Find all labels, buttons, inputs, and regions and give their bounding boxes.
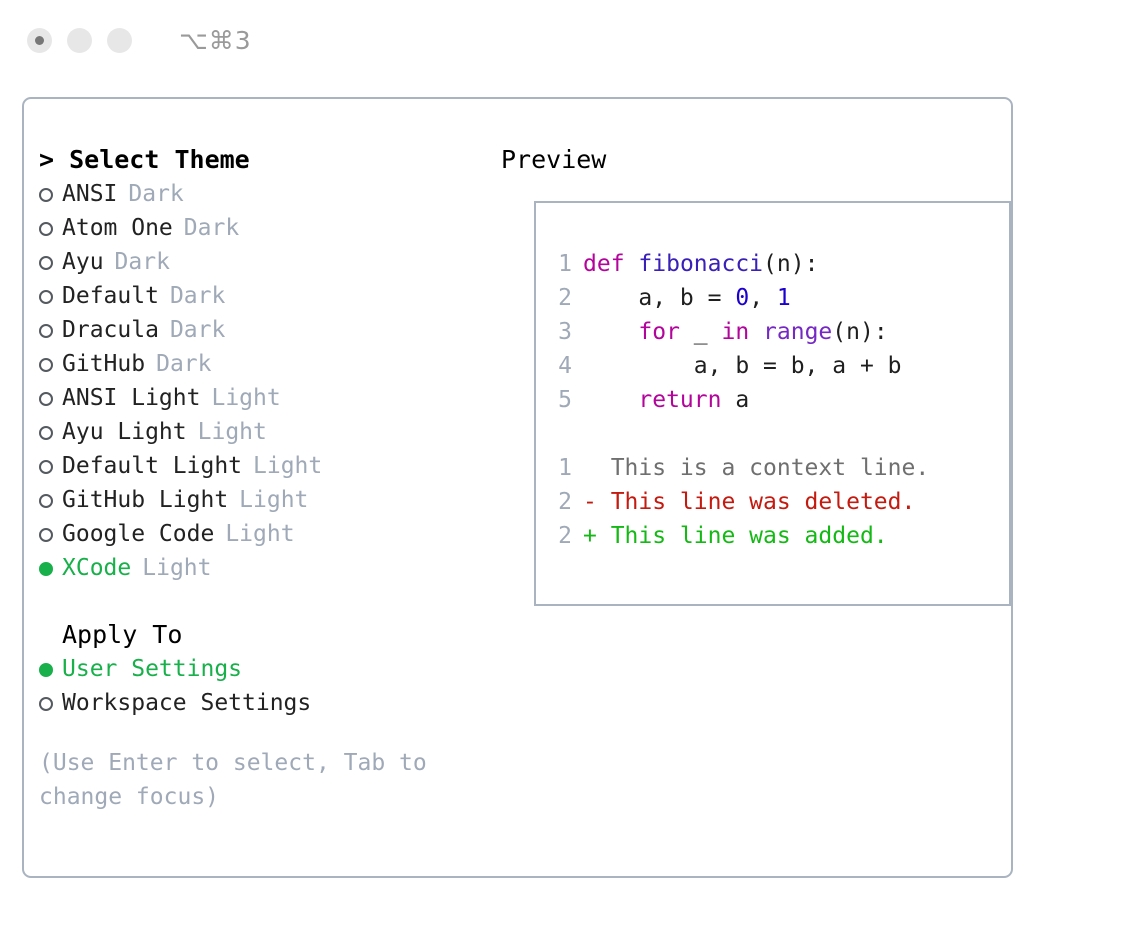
code-line: 1def fibonacci(n): <box>548 247 1009 281</box>
radio-unselected-icon <box>39 347 62 381</box>
keyboard-hint-text: (Use Enter to select, Tab to change focu… <box>39 746 439 814</box>
diff-line-number: 1 <box>548 451 572 485</box>
diff-line-del: 2- This line was deleted. <box>548 485 1009 519</box>
window-button-2[interactable] <box>67 28 92 53</box>
theme-item-ayu[interactable]: AyuDark <box>39 245 489 279</box>
token-plain: (n): <box>763 251 818 277</box>
code-text: a, b = b, a + b <box>583 349 902 383</box>
theme-item-label: XCode <box>62 551 131 585</box>
theme-item-ayu-light[interactable]: Ayu LightLight <box>39 415 489 449</box>
theme-kind-label: Dark <box>184 211 239 245</box>
theme-item-ansi[interactable]: ANSIDark <box>39 177 489 211</box>
code-line: 4 a, b = b, a + b <box>548 349 1009 383</box>
radio-unselected-icon <box>39 313 62 347</box>
line-number: 2 <box>548 281 572 315</box>
window-button-3[interactable] <box>107 28 132 53</box>
theme-item-label: Ayu <box>62 245 104 279</box>
radio-selected-icon <box>39 652 62 686</box>
preview-column: Preview 1def fibonacci(n):2 a, b = 0, 13… <box>501 143 1001 177</box>
apply-to-option-user-settings[interactable]: User Settings <box>39 652 489 686</box>
code-diff-gap <box>548 417 1009 451</box>
theme-kind-label: Dark <box>170 279 225 313</box>
token-builtin: range <box>763 319 832 345</box>
token-plain <box>749 319 763 345</box>
token-plain: a <box>721 387 749 413</box>
token-fn: fibonacci <box>638 251 763 277</box>
preview-heading: Preview <box>501 143 1001 177</box>
code-preview: 1def fibonacci(n):2 a, b = 0, 13 for _ i… <box>536 203 1009 553</box>
token-kw: def <box>583 251 625 277</box>
token-kw: for <box>638 319 680 345</box>
keyboard-shortcut-label: ⌥⌘3 <box>179 26 252 55</box>
token-num: 1 <box>777 285 791 311</box>
token-num: 0 <box>735 285 749 311</box>
theme-kind-label: Light <box>239 483 308 517</box>
record-dot-icon <box>35 36 44 45</box>
code-text: def fibonacci(n): <box>583 247 818 281</box>
theme-item-default-light[interactable]: Default LightLight <box>39 449 489 483</box>
radio-unselected-icon <box>39 279 62 313</box>
spacer <box>39 720 489 746</box>
radio-unselected-icon <box>39 415 62 449</box>
token-kw: return <box>638 387 721 413</box>
theme-item-ansi-light[interactable]: ANSI LightLight <box>39 381 489 415</box>
apply-to-option-workspace-settings[interactable]: Workspace Settings <box>39 686 489 720</box>
theme-item-label: Ayu Light <box>62 415 187 449</box>
radio-unselected-icon <box>39 245 62 279</box>
theme-item-label: ANSI Light <box>62 381 200 415</box>
theme-list: ANSIDarkAtom OneDarkAyuDarkDefaultDarkDr… <box>39 177 489 585</box>
theme-kind-label: Light <box>198 415 267 449</box>
diff-line-text: - This line was deleted. <box>583 485 915 519</box>
token-plain <box>583 319 638 345</box>
line-number: 5 <box>548 383 572 417</box>
theme-item-label: ANSI <box>62 177 117 211</box>
theme-kind-label: Light <box>142 551 211 585</box>
code-text: for _ in range(n): <box>583 315 888 349</box>
code-line: 5 return a <box>548 383 1009 417</box>
theme-item-label: Default Light <box>62 449 242 483</box>
theme-item-default[interactable]: DefaultDark <box>39 279 489 313</box>
theme-kind-label: Light <box>211 381 280 415</box>
token-plain: a, b = b, a + b <box>583 353 902 379</box>
theme-kind-label: Dark <box>128 177 183 211</box>
apply-to-option-label: User Settings <box>62 652 242 686</box>
radio-unselected-icon <box>39 517 62 551</box>
diff-line-context: 1 This is a context line. <box>548 451 1009 485</box>
line-number: 4 <box>548 349 572 383</box>
token-plain <box>583 387 638 413</box>
theme-item-label: Google Code <box>62 517 214 551</box>
theme-kind-label: Dark <box>156 347 211 381</box>
token-plain: a, b = <box>583 285 735 311</box>
code-text: return a <box>583 383 749 417</box>
theme-item-google-code[interactable]: Google CodeLight <box>39 517 489 551</box>
line-number: 3 <box>548 315 572 349</box>
diff-line-number: 2 <box>548 485 572 519</box>
theme-item-github-light[interactable]: GitHub LightLight <box>39 483 489 517</box>
radio-unselected-icon <box>39 177 62 211</box>
record-indicator-button[interactable] <box>27 28 52 53</box>
theme-item-atom-one[interactable]: Atom OneDark <box>39 211 489 245</box>
radio-unselected-icon <box>39 483 62 517</box>
radio-unselected-icon <box>39 686 62 720</box>
theme-item-xcode[interactable]: XCodeLight <box>39 551 489 585</box>
diff-line-number: 2 <box>548 519 572 553</box>
radio-selected-icon <box>39 551 62 585</box>
token-kw: in <box>721 319 749 345</box>
select-theme-heading: > Select Theme <box>39 143 489 177</box>
theme-item-label: Atom One <box>62 211 173 245</box>
theme-kind-label: Light <box>225 517 294 551</box>
theme-item-github[interactable]: GitHubDark <box>39 347 489 381</box>
theme-item-label: Dracula <box>62 313 159 347</box>
theme-kind-label: Light <box>253 449 322 483</box>
code-line: 2 a, b = 0, 1 <box>548 281 1009 315</box>
apply-to-option-label: Workspace Settings <box>62 686 311 720</box>
code-line: 3 for _ in range(n): <box>548 315 1009 349</box>
radio-unselected-icon <box>39 211 62 245</box>
app-window: ⌥⌘3 > Select Theme ANSIDarkAtom OneDarkA… <box>0 0 1140 934</box>
preview-box: 1def fibonacci(n):2 a, b = 0, 13 for _ i… <box>534 201 1011 606</box>
diff-line-add: 2+ This line was added. <box>548 519 1009 553</box>
theme-item-label: Default <box>62 279 159 313</box>
token-plain: _ <box>680 319 722 345</box>
token-plain: , <box>749 285 777 311</box>
title-bar: ⌥⌘3 <box>0 0 1140 80</box>
apply-to-heading: Apply To <box>39 618 489 652</box>
apply-to-list: User SettingsWorkspace Settings <box>39 652 489 720</box>
theme-item-label: GitHub <box>62 347 145 381</box>
spacer <box>39 585 489 618</box>
main-panel: > Select Theme ANSIDarkAtom OneDarkAyuDa… <box>22 97 1013 878</box>
diff-line-text: This is a context line. <box>583 451 929 485</box>
diff-line-text: + This line was added. <box>583 519 888 553</box>
token-plain <box>625 251 639 277</box>
theme-kind-label: Dark <box>115 245 170 279</box>
theme-item-dracula[interactable]: DraculaDark <box>39 313 489 347</box>
radio-unselected-icon <box>39 449 62 483</box>
token-plain: (n): <box>832 319 887 345</box>
radio-unselected-icon <box>39 381 62 415</box>
theme-kind-label: Dark <box>170 313 225 347</box>
line-number: 1 <box>548 247 572 281</box>
code-text: a, b = 0, 1 <box>583 281 791 315</box>
theme-item-label: GitHub Light <box>62 483 228 517</box>
theme-selector-column: > Select Theme ANSIDarkAtom OneDarkAyuDa… <box>39 143 489 814</box>
